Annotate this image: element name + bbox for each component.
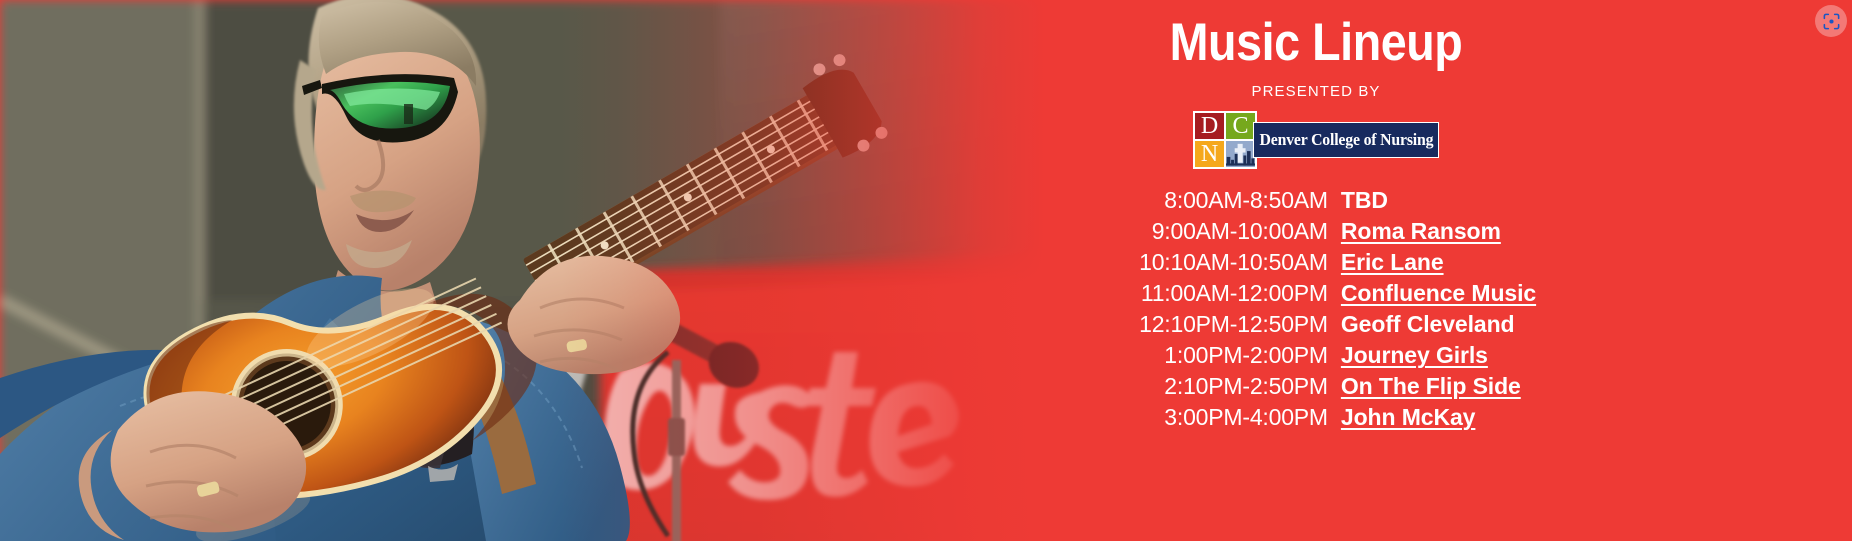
schedule-slot: 2:10PM-2:50PMOn The Flip Side bbox=[1096, 373, 1536, 404]
logo-tile-n: N bbox=[1194, 140, 1225, 168]
slot-time: 2:10PM-2:50PM bbox=[1096, 373, 1328, 400]
schedule-slot: 12:10PM-12:50PMGeoff Cleveland bbox=[1096, 311, 1536, 342]
schedule-slot: 10:10AM-10:50AMEric Lane bbox=[1096, 249, 1536, 280]
sponsor-wordmark: Denver College of Nursing bbox=[1259, 130, 1433, 150]
city-skyline-icon bbox=[1225, 140, 1256, 168]
schedule-slot: 11:00AM-12:00PMConfluence Music bbox=[1096, 280, 1536, 311]
sponsor-wordmark-bar: Denver College of Nursing bbox=[1253, 122, 1439, 158]
slot-time: 3:00PM-4:00PM bbox=[1096, 404, 1328, 431]
slot-artist: TBD bbox=[1341, 187, 1388, 214]
visual-search-lens-icon bbox=[1822, 12, 1841, 31]
slot-artist-link[interactable]: Roma Ransom bbox=[1341, 218, 1501, 245]
slot-artist-link[interactable]: On The Flip Side bbox=[1341, 373, 1521, 400]
logo-tile-c: C bbox=[1225, 112, 1256, 140]
slot-artist-link[interactable]: Confluence Music bbox=[1341, 280, 1536, 307]
logo-tile-d: D bbox=[1194, 112, 1225, 140]
visual-search-lens-button[interactable] bbox=[1815, 5, 1847, 37]
schedule-slot: 8:00AM-8:50AMTBD bbox=[1096, 187, 1536, 218]
presented-by-label: PRESENTED BY bbox=[780, 83, 1852, 100]
slot-artist-link[interactable]: Eric Lane bbox=[1341, 249, 1444, 276]
page-title: Music Lineup bbox=[844, 13, 1787, 73]
slot-time: 8:00AM-8:50AM bbox=[1096, 187, 1328, 214]
slot-time: 1:00PM-2:00PM bbox=[1096, 342, 1328, 369]
slot-artist: Geoff Cleveland bbox=[1341, 311, 1515, 338]
slot-time: 12:10PM-12:50PM bbox=[1096, 311, 1328, 338]
schedule-slot: 1:00PM-2:00PMJourney Girls bbox=[1096, 342, 1536, 373]
lineup-content: Music Lineup PRESENTED BY D C N bbox=[780, 0, 1852, 541]
sponsor-logo-tiles: D C N bbox=[1193, 111, 1257, 169]
slot-time: 9:00AM-10:00AM bbox=[1096, 218, 1328, 245]
slot-artist-link[interactable]: John McKay bbox=[1341, 404, 1475, 431]
schedule-slot: 9:00AM-10:00AMRoma Ransom bbox=[1096, 218, 1536, 249]
music-lineup-banner: Music Lineup PRESENTED BY D C N bbox=[0, 0, 1852, 541]
schedule-slot: 3:00PM-4:00PMJohn McKay bbox=[1096, 404, 1536, 435]
slot-time: 10:10AM-10:50AM bbox=[1096, 249, 1328, 276]
slot-artist-link[interactable]: Journey Girls bbox=[1341, 342, 1488, 369]
music-schedule-list: 8:00AM-8:50AMTBD9:00AM-10:00AMRoma Ranso… bbox=[1096, 187, 1536, 435]
slot-time: 11:00AM-12:00PM bbox=[1096, 280, 1328, 307]
city-skyline-glyph bbox=[1226, 141, 1255, 167]
sponsor-logo[interactable]: D C N bbox=[1193, 111, 1439, 169]
